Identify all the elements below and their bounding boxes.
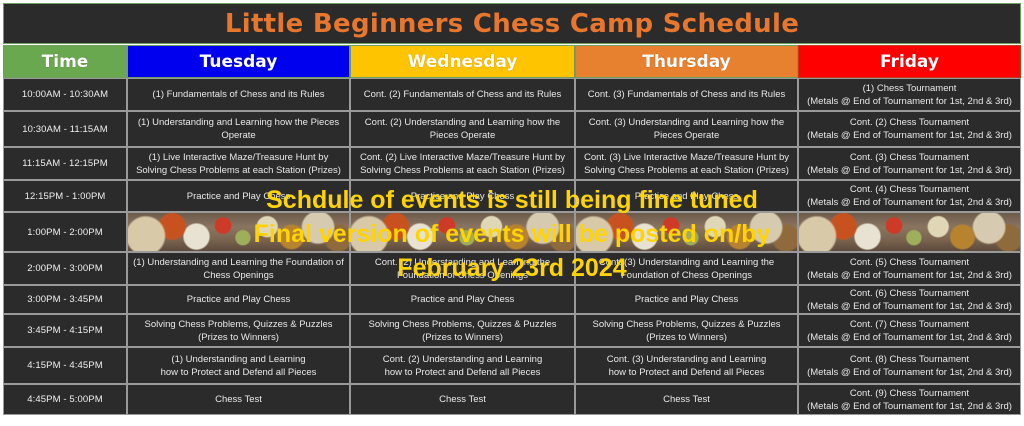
cell-time: 4:15PM - 4:45PM xyxy=(3,347,127,384)
table-header-row: Time Tuesday Wednesday Thursday Friday xyxy=(3,45,1021,78)
cell-thursday-text: Cont. (3) Understanding and Learning the… xyxy=(580,256,793,282)
cell-friday-text: Cont. (2) Chess Tournament (Metals @ End… xyxy=(807,116,1012,142)
table-row: 3:00PM - 3:45PMPractice and Play ChessPr… xyxy=(3,285,1021,314)
cell-friday-text: Cont. (3) Chess Tournament (Metals @ End… xyxy=(807,151,1012,177)
cell-friday-text: (1) Chess Tournament (Metals @ End of To… xyxy=(807,82,1012,108)
cell-friday: Cont. (4) Chess Tournament (Metals @ End… xyxy=(798,180,1021,212)
cell-friday: Cont. (7) Chess Tournament (Metals @ End… xyxy=(798,314,1021,347)
cell-tuesday-text: Solving Chess Problems, Quizzes & Puzzle… xyxy=(145,318,333,344)
cell-time-text: 11:15AM - 12:15PM xyxy=(22,157,107,170)
cell-friday-text: Cont. (5) Chess Tournament (Metals @ End… xyxy=(807,256,1012,282)
cell-tuesday-text: (1) Understanding and Learning the Found… xyxy=(132,256,345,282)
cell-tuesday: (1) Understanding and Learning how the P… xyxy=(127,111,350,147)
cell-time-text: 2:00PM - 3:00PM xyxy=(27,262,102,275)
cell-wednesday-text: Cont. (2) Fundamentals of Chess and its … xyxy=(364,88,561,101)
cell-friday: Cont. (6) Chess Tournament (Metals @ End… xyxy=(798,285,1021,314)
table-row: 12:15PM - 1:00PMPractice and Play ChessP… xyxy=(3,180,1021,212)
cell-wednesday: Cont. (2) Understanding and Learning how… xyxy=(350,111,575,147)
cell-thursday: Cont. (3) Understanding and Learning how… xyxy=(575,347,798,384)
cell-friday: Cont. (2) Chess Tournament (Metals @ End… xyxy=(798,111,1021,147)
cell-wednesday-text: Cont. (2) Understanding and Learning how… xyxy=(355,116,570,142)
cell-thursday: Cont. (3) Fundamentals of Chess and its … xyxy=(575,78,798,111)
cell-time: 10:00AM - 10:30AM xyxy=(3,78,127,111)
cell-thursday-text: Cont. (3) Understanding and Learning how… xyxy=(580,116,793,142)
cell-thursday: Practice and Play Chess xyxy=(575,285,798,314)
page-title: Little Beginners Chess Camp Schedule xyxy=(225,9,799,39)
column-header-wednesday: Wednesday xyxy=(350,45,575,78)
cell-friday: Cont. (8) Chess Tournament (Metals @ End… xyxy=(798,347,1021,384)
cell-tuesday: Chess Test xyxy=(127,384,350,415)
food-image xyxy=(128,213,349,251)
cell-thursday: Cont. (3) Live Interactive Maze/Treasure… xyxy=(575,147,798,180)
cell-thursday-text: Cont. (3) Live Interactive Maze/Treasure… xyxy=(580,151,793,177)
cell-thursday: Solving Chess Problems, Quizzes & Puzzle… xyxy=(575,314,798,347)
cell-time: 2:00PM - 3:00PM xyxy=(3,252,127,285)
cell-time-text: 12:15PM - 1:00PM xyxy=(25,190,106,203)
cell-tuesday-text: (1) Fundamentals of Chess and its Rules xyxy=(152,88,324,101)
cell-time: 12:15PM - 1:00PM xyxy=(3,180,127,212)
cell-time: 11:15AM - 12:15PM xyxy=(3,147,127,180)
cell-friday-text: Cont. (4) Chess Tournament (Metals @ End… xyxy=(807,183,1012,209)
cell-friday-text: Cont. (6) Chess Tournament (Metals @ End… xyxy=(807,287,1012,313)
cell-tuesday-text: Practice and Play Chess xyxy=(187,190,291,203)
cell-time: 4:45PM - 5:00PM xyxy=(3,384,127,415)
food-image xyxy=(351,213,574,251)
column-header-time: Time xyxy=(3,45,127,78)
lunch-photo xyxy=(575,212,798,252)
cell-thursday: Cont. (3) Understanding and Learning how… xyxy=(575,111,798,147)
column-header-friday: Friday xyxy=(798,45,1021,78)
cell-wednesday-text: Cont. (2) Live Interactive Maze/Treasure… xyxy=(355,151,570,177)
cell-thursday-text: Practice and Play Chess xyxy=(635,293,739,306)
title-banner: Little Beginners Chess Camp Schedule xyxy=(3,3,1021,44)
table-row: 10:00AM - 10:30AM(1) Fundamentals of Che… xyxy=(3,78,1021,111)
cell-wednesday-text: Practice and Play Chess xyxy=(411,293,515,306)
table-row: 1:00PM - 2:00PM xyxy=(3,212,1021,252)
table-row: 3:45PM - 4:15PMSolving Chess Problems, Q… xyxy=(3,314,1021,347)
cell-thursday-text: Cont. (3) Understanding and Learning how… xyxy=(607,353,767,379)
cell-thursday-text: Chess Test xyxy=(663,393,710,406)
table-row: 4:45PM - 5:00PMChess TestChess TestChess… xyxy=(3,384,1021,415)
table-body: 10:00AM - 10:30AM(1) Fundamentals of Che… xyxy=(3,78,1021,415)
cell-wednesday: Practice and Play Chess xyxy=(350,285,575,314)
food-image xyxy=(799,213,1020,251)
cell-tuesday: (1) Understanding and Learning the Found… xyxy=(127,252,350,285)
cell-wednesday-text: Cont. (2) Understanding and Learning the… xyxy=(355,256,570,282)
cell-wednesday: Practice and Play Chess xyxy=(350,180,575,212)
cell-tuesday: Practice and Play Chess xyxy=(127,285,350,314)
cell-tuesday-text: Practice and Play Chess xyxy=(187,293,291,306)
cell-tuesday-text: (1) Understanding and Learning how the P… xyxy=(132,116,345,142)
cell-wednesday: Cont. (2) Understanding and Learning the… xyxy=(350,252,575,285)
lunch-photo xyxy=(350,212,575,252)
cell-tuesday-text: (1) Live Interactive Maze/Treasure Hunt … xyxy=(132,151,345,177)
cell-wednesday: Solving Chess Problems, Quizzes & Puzzle… xyxy=(350,314,575,347)
cell-time: 3:45PM - 4:15PM xyxy=(3,314,127,347)
table-row: 2:00PM - 3:00PM(1) Understanding and Lea… xyxy=(3,252,1021,285)
table-row: 4:15PM - 4:45PM(1) Understanding and Lea… xyxy=(3,347,1021,384)
table-row: 11:15AM - 12:15PM(1) Live Interactive Ma… xyxy=(3,147,1021,180)
cell-tuesday: (1) Live Interactive Maze/Treasure Hunt … xyxy=(127,147,350,180)
cell-wednesday: Chess Test xyxy=(350,384,575,415)
cell-tuesday-text: Chess Test xyxy=(215,393,262,406)
cell-wednesday-text: Cont. (2) Understanding and Learning how… xyxy=(383,353,543,379)
lunch-photo xyxy=(127,212,350,252)
cell-time-text: 10:30AM - 11:15AM xyxy=(22,123,107,136)
cell-friday: Cont. (5) Chess Tournament (Metals @ End… xyxy=(798,252,1021,285)
cell-tuesday-text: (1) Understanding and Learning how to Pr… xyxy=(161,353,317,379)
cell-friday: (1) Chess Tournament (Metals @ End of To… xyxy=(798,78,1021,111)
cell-time: 10:30AM - 11:15AM xyxy=(3,111,127,147)
cell-thursday: Cont. (3) Understanding and Learning the… xyxy=(575,252,798,285)
cell-friday: Cont. (3) Chess Tournament (Metals @ End… xyxy=(798,147,1021,180)
cell-friday-text: Cont. (9) Chess Tournament (Metals @ End… xyxy=(807,387,1012,413)
cell-tuesday: Practice and Play Chess xyxy=(127,180,350,212)
cell-time-text: 3:45PM - 4:15PM xyxy=(27,324,102,337)
cell-friday: Cont. (9) Chess Tournament (Metals @ End… xyxy=(798,384,1021,415)
cell-wednesday: Cont. (2) Fundamentals of Chess and its … xyxy=(350,78,575,111)
cell-friday-text: Cont. (8) Chess Tournament (Metals @ End… xyxy=(807,353,1012,379)
column-header-tuesday: Tuesday xyxy=(127,45,350,78)
cell-tuesday: Solving Chess Problems, Quizzes & Puzzle… xyxy=(127,314,350,347)
cell-thursday: Chess Test xyxy=(575,384,798,415)
cell-thursday: Practice and Play Chess xyxy=(575,180,798,212)
cell-wednesday-text: Solving Chess Problems, Quizzes & Puzzle… xyxy=(369,318,557,344)
lunch-photo xyxy=(798,212,1021,252)
cell-time-text: 10:00AM - 10:30AM xyxy=(22,88,108,101)
cell-tuesday: (1) Understanding and Learning how to Pr… xyxy=(127,347,350,384)
cell-time-text: 3:00PM - 3:45PM xyxy=(27,293,102,306)
table-row: 10:30AM - 11:15AM(1) Understanding and L… xyxy=(3,111,1021,147)
cell-wednesday-text: Chess Test xyxy=(439,393,486,406)
cell-time-text: 1:00PM - 2:00PM xyxy=(27,226,102,239)
cell-time: 1:00PM - 2:00PM xyxy=(3,212,127,252)
cell-time: 3:00PM - 3:45PM xyxy=(3,285,127,314)
cell-wednesday: Cont. (2) Live Interactive Maze/Treasure… xyxy=(350,147,575,180)
cell-thursday-text: Practice and Play Chess xyxy=(635,190,739,203)
cell-wednesday-text: Practice and Play Chess xyxy=(411,190,515,203)
cell-time-text: 4:45PM - 5:00PM xyxy=(27,393,102,406)
column-header-thursday: Thursday xyxy=(575,45,798,78)
cell-time-text: 4:15PM - 4:45PM xyxy=(27,359,102,372)
food-image xyxy=(576,213,797,251)
cell-friday-text: Cont. (7) Chess Tournament (Metals @ End… xyxy=(807,318,1012,344)
cell-thursday-text: Solving Chess Problems, Quizzes & Puzzle… xyxy=(593,318,781,344)
schedule-table: Time Tuesday Wednesday Thursday Friday 1… xyxy=(3,45,1021,423)
cell-tuesday: (1) Fundamentals of Chess and its Rules xyxy=(127,78,350,111)
schedule-page: Little Beginners Chess Camp Schedule Tim… xyxy=(0,0,1024,426)
cell-wednesday: Cont. (2) Understanding and Learning how… xyxy=(350,347,575,384)
cell-thursday-text: Cont. (3) Fundamentals of Chess and its … xyxy=(588,88,785,101)
